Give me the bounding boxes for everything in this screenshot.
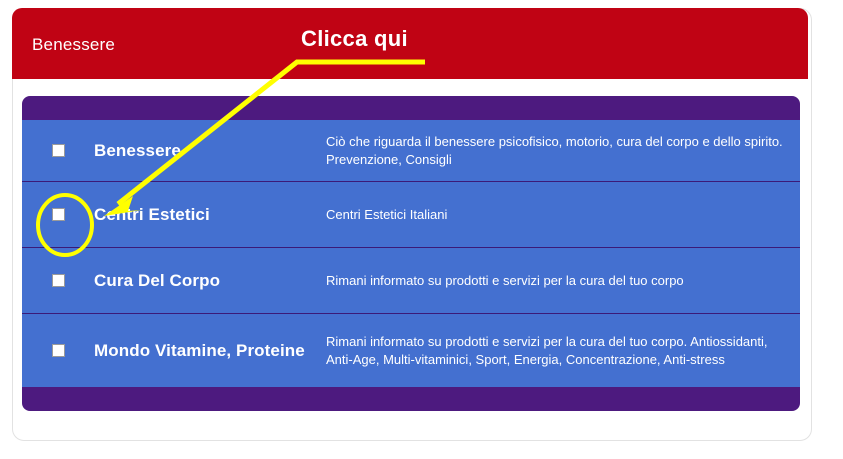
row-checkbox-cell[interactable] — [22, 144, 94, 157]
page-title: Benessere — [32, 35, 115, 55]
checkbox-icon[interactable] — [52, 344, 65, 357]
row-name: Mondo Vitamine, Proteine — [94, 341, 326, 361]
table-row[interactable]: Centri Estetici Centri Estetici Italiani — [22, 182, 800, 248]
table-row[interactable]: Cura Del Corpo Rimani informato su prodo… — [22, 248, 800, 314]
row-checkbox-cell[interactable] — [22, 344, 94, 357]
row-description: Centri Estetici Italiani — [326, 206, 800, 224]
row-name: Centri Estetici — [94, 205, 326, 225]
row-name: Benessere — [94, 141, 326, 161]
checkbox-icon[interactable] — [52, 274, 65, 287]
subscription-table: Benessere Ciò che riguarda il benessere … — [22, 96, 800, 411]
table-row[interactable]: Benessere Ciò che riguarda il benessere … — [22, 120, 800, 182]
row-checkbox-cell[interactable] — [22, 208, 94, 221]
annotation-label-clicca-qui: Clicca qui — [301, 26, 408, 52]
table-body: Benessere Ciò che riguarda il benessere … — [22, 120, 800, 387]
row-description: Ciò che riguarda il benessere psicofisic… — [326, 133, 800, 168]
checkbox-icon[interactable] — [52, 144, 65, 157]
row-checkbox-cell[interactable] — [22, 274, 94, 287]
row-description: Rimani informato su prodotti e servizi p… — [326, 272, 800, 290]
table-row[interactable]: Mondo Vitamine, Proteine Rimani informat… — [22, 314, 800, 387]
row-name: Cura Del Corpo — [94, 271, 326, 291]
row-description: Rimani informato su prodotti e servizi p… — [326, 333, 800, 368]
page-header: Benessere — [12, 8, 808, 79]
checkbox-icon[interactable] — [52, 208, 65, 221]
